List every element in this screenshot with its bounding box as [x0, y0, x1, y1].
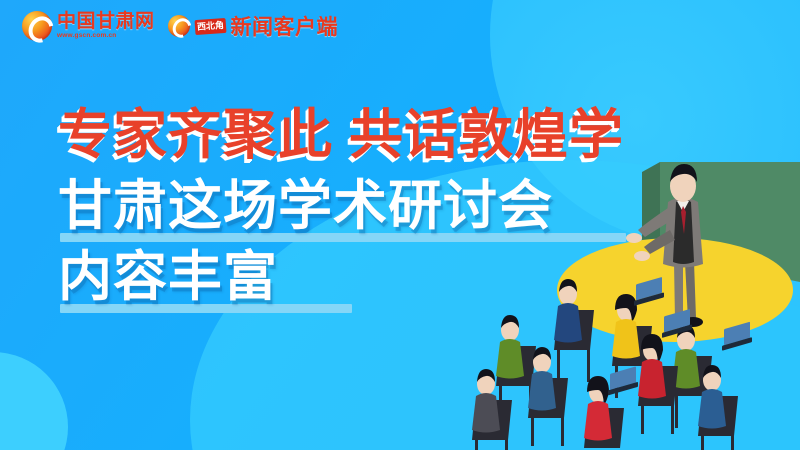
app-logo[interactable]: 西北角 新闻客户端 [168, 11, 339, 41]
brand-logo-bar: 中国甘肃网 www.gscn.com.cn 西北角 新闻客户端 [22, 11, 338, 41]
news-promo-banner: 中国甘肃网 www.gscn.com.cn 西北角 新闻客户端 专家齐聚此 共话… [0, 0, 800, 450]
xibeijiao-swoosh-logo-icon [168, 15, 190, 37]
headline-line-2: 甘肃这场学术研讨会 [58, 179, 624, 233]
xibeijiao-seal: 西北角 [194, 17, 226, 34]
app-name: 新闻客户端 [231, 11, 339, 41]
headline-line-3: 内容丰富 [58, 250, 624, 304]
site-logo-text: 中国甘肃网 www.gscn.com.cn [57, 12, 155, 40]
site-url: www.gscn.com.cn [57, 33, 155, 40]
attendee [496, 315, 524, 379]
headline-line-2-text: 甘肃这场学术研讨会 [58, 176, 553, 236]
gansu-swoosh-logo-icon [22, 11, 52, 41]
headline-line-3-text: 内容丰富 [58, 247, 278, 307]
headline-block: 专家齐聚此 共话敦煌学 甘肃这场学术研讨会 内容丰富 [58, 108, 624, 304]
attendee [472, 369, 500, 433]
site-name: 中国甘肃网 [57, 12, 155, 31]
site-logo[interactable]: 中国甘肃网 www.gscn.com.cn [22, 11, 155, 41]
headline-line-1: 专家齐聚此 共话敦煌学 [58, 108, 624, 162]
